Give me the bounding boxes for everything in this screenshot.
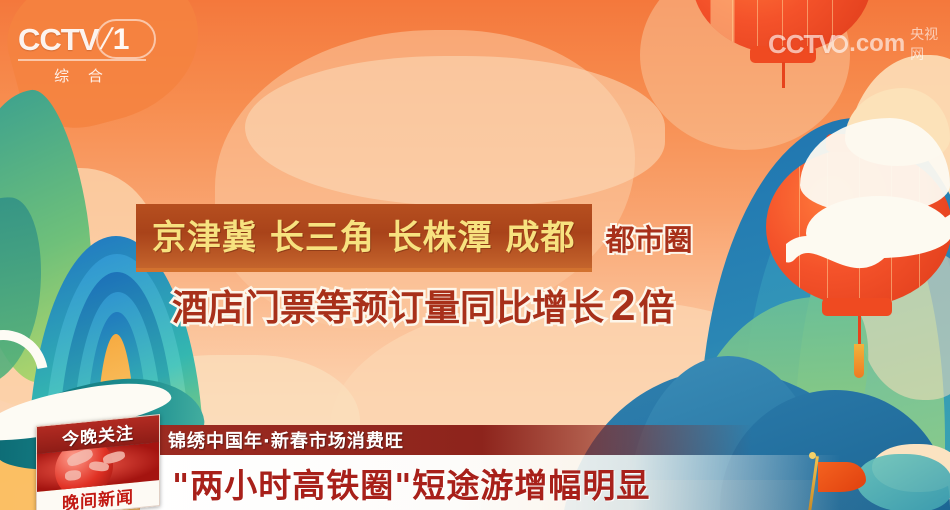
headline-secondary-number: 2 [611, 281, 635, 331]
channel-logo-text: CCTV [18, 22, 98, 58]
decor-ribbon [856, 454, 950, 510]
headline-primary-regions: 京津冀 长三角 长株潭 成都 [152, 210, 576, 259]
headline-secondary-unit: 倍 [639, 279, 675, 331]
channel-subtitle: 综 合 [18, 65, 146, 86]
program-logo: 今晚关注 晚间新闻 [36, 414, 160, 510]
headline-primary-suffix-wrap: 都市圈 [606, 204, 693, 272]
watermark-domain: .com [849, 30, 905, 58]
ticker-headline-bar: "两小时高铁圈"短途游增幅明显 [140, 455, 840, 510]
flag-icon [818, 462, 866, 492]
cloud-swirl-icon [786, 214, 950, 274]
headline-primary-suffix: 都市圈 [606, 217, 693, 259]
ticker-topic-text: 锦绣中国年·新春市场消费旺 [168, 427, 404, 453]
headline-primary-bar: 京津冀 长三角 长株潭 成都 [136, 204, 592, 272]
cctv-com-watermark: CCTV .com 央视网 [768, 24, 950, 64]
channel-logo: CCTV / 1 综 合 [18, 22, 146, 86]
headline-secondary-text: 酒店门票等预订量同比增长 [172, 279, 604, 331]
ticker-topic-bar: 锦绣中国年·新春市场消费旺 [152, 425, 752, 455]
watermark-ring-icon [831, 35, 848, 53]
headline-primary: 京津冀 长三角 长株潭 成都 都市圈 [136, 204, 693, 272]
channel-logo-pill [96, 19, 156, 59]
headline-secondary: 酒店门票等预订量同比增长 2 倍 [172, 279, 675, 331]
lower-third: 锦绣中国年·新春市场消费旺 "两小时高铁圈"短途游增幅明显 今晚关注 晚间新闻 [0, 414, 950, 510]
watermark-chinese: 央视网 [910, 24, 950, 64]
channel-logo-underline [18, 59, 146, 61]
watermark-brand: CCTV [768, 29, 835, 60]
ticker-headline-text: "两小时高铁圈"短途游增幅明显 [172, 459, 650, 507]
broadcast-screen: CCTV / 1 综 合 CCTV .com 央视网 京津冀 长三角 长株潭 成… [0, 0, 950, 510]
